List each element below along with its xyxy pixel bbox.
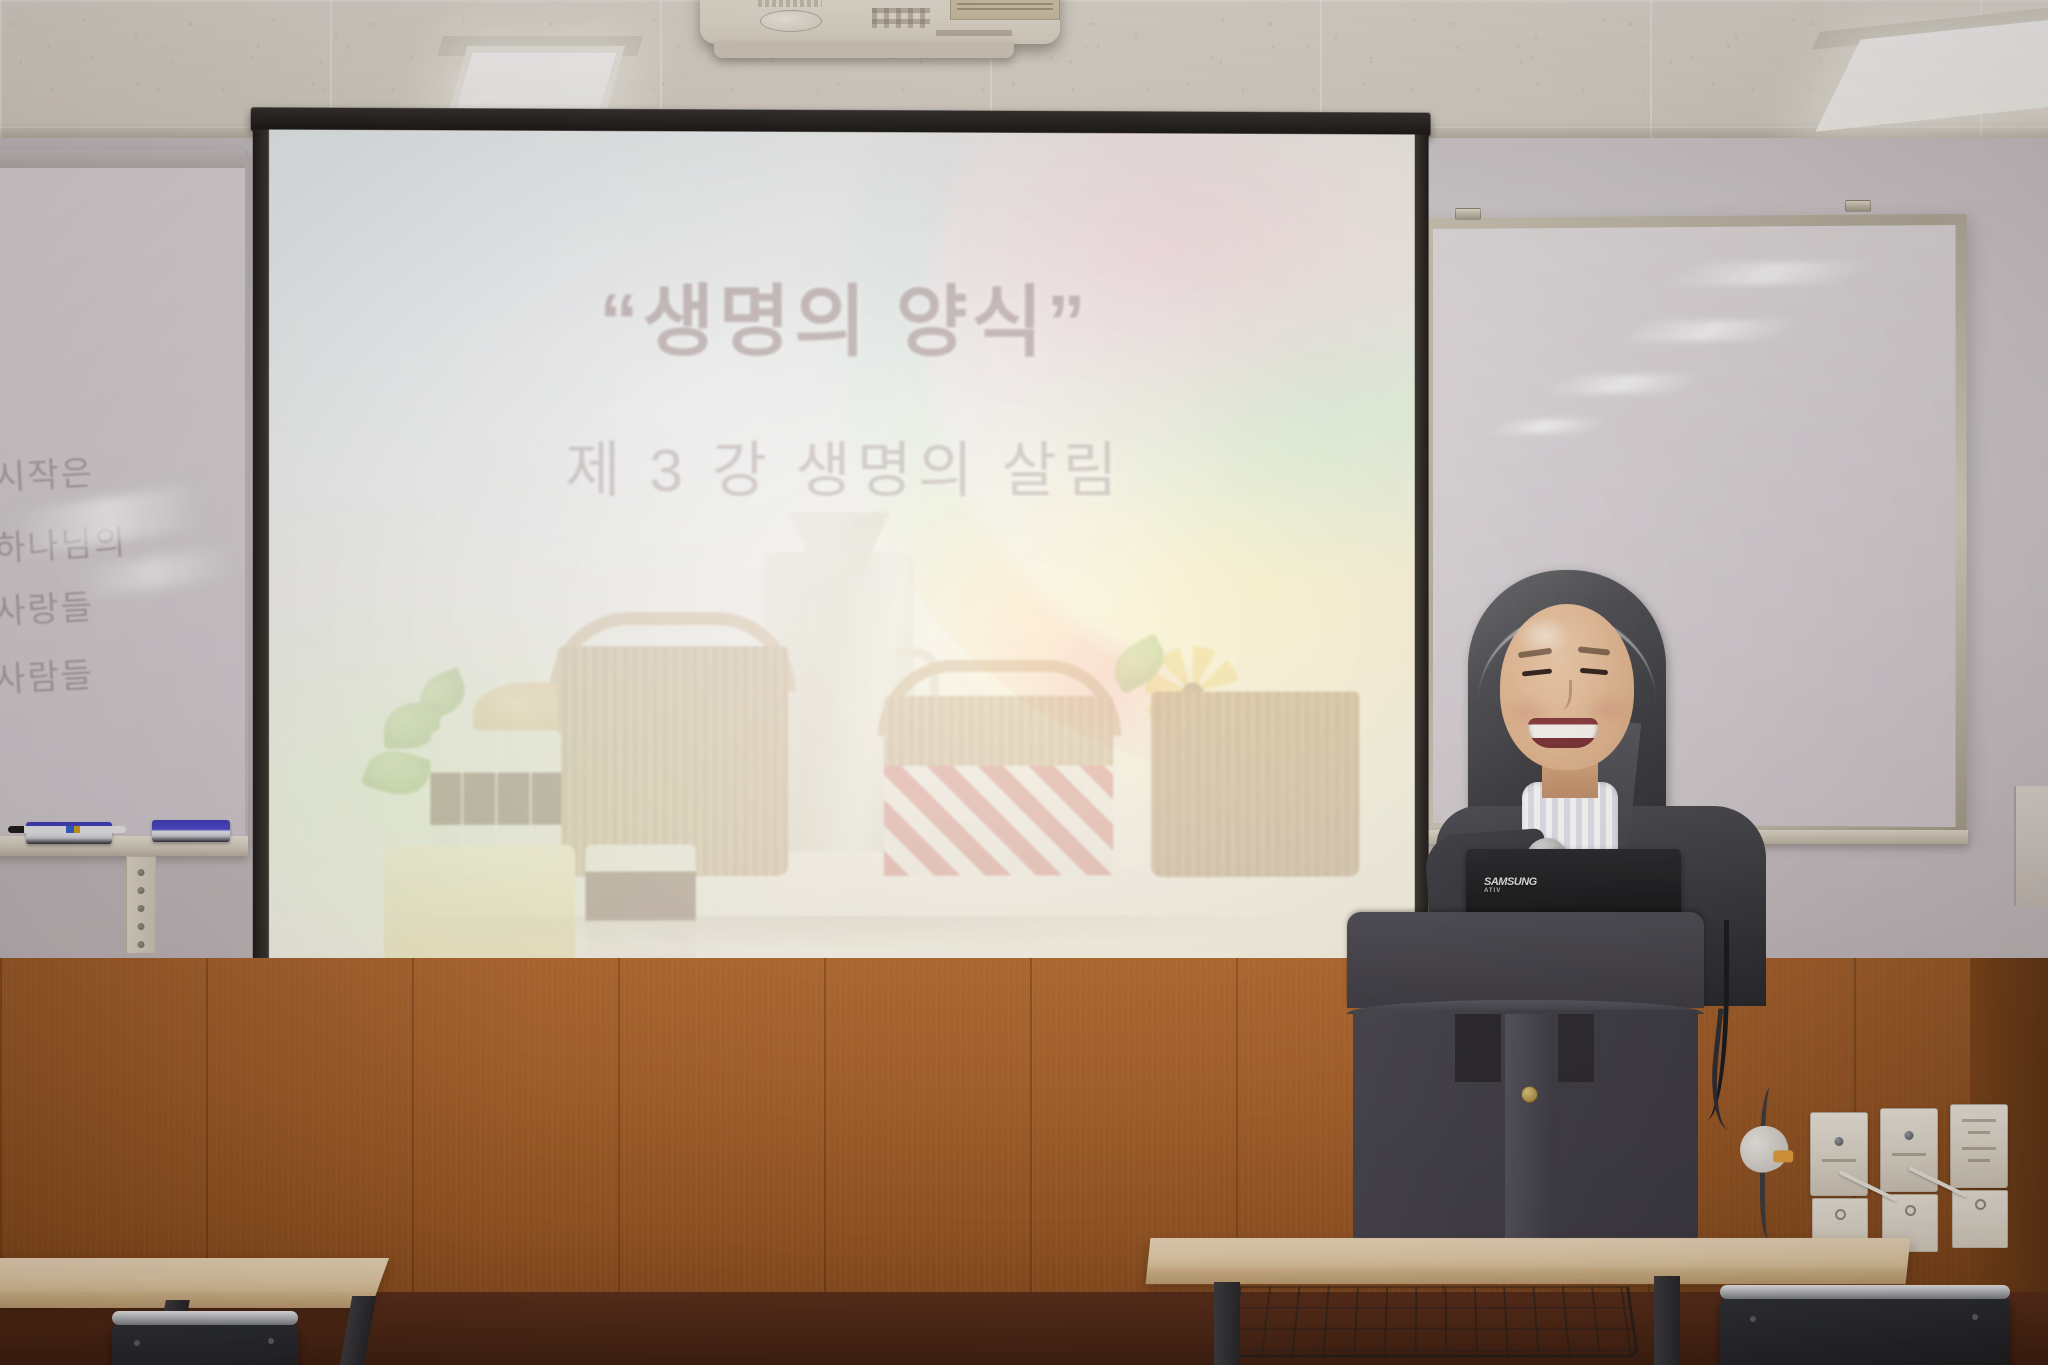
whiteboard-handwriting-line-4: 사람들 xyxy=(0,647,95,701)
lecture-hall-scene: 시작은 하나님의 사랑들 사람들 xyxy=(0,0,2048,1365)
av-jack-plate-3[interactable] xyxy=(1952,1190,2008,1248)
gingham-cloth xyxy=(884,766,1113,876)
under-desk-wire-basket xyxy=(1227,1286,1640,1357)
whiteboard-marker[interactable] xyxy=(8,826,126,833)
projection-screen: “생명의 양식” 제 3 강 생명의 살림 xyxy=(269,129,1415,1040)
wicker-basket-3 xyxy=(1151,691,1359,877)
smiling-mouth xyxy=(1528,718,1598,748)
projected-slide: “생명의 양식” 제 3 강 생명의 살림 xyxy=(269,129,1415,1014)
whiteboard-handwriting-line-1: 시작은 xyxy=(0,445,95,499)
laptop-brand-text: SAMSUNG xyxy=(1484,876,1537,888)
table-edge xyxy=(1146,1268,1908,1284)
student-chair-right[interactable] xyxy=(1720,1294,2010,1365)
projector-brand-label xyxy=(758,0,822,7)
cheek-right xyxy=(1592,700,1626,720)
board-glare-4 xyxy=(1487,419,1604,433)
projector-mount xyxy=(714,42,1014,58)
ceiling-projector xyxy=(700,0,1060,44)
student-chair-left[interactable] xyxy=(112,1320,298,1365)
board-glare-1 xyxy=(1668,262,1871,285)
artwork-shadow xyxy=(366,914,1326,951)
wicker-basket-1 xyxy=(557,646,788,877)
slide-food-artwork xyxy=(366,562,1326,944)
lectern-center-column xyxy=(1505,1014,1555,1250)
projector-vent-grille xyxy=(872,8,930,28)
student-table-left xyxy=(0,1258,389,1308)
table-leg-right xyxy=(1654,1276,1680,1365)
av-wall-plate-audio[interactable] xyxy=(1950,1104,2008,1188)
left-whiteboard-frame xyxy=(0,150,245,168)
board-glare-2 xyxy=(1619,320,1800,341)
student-table-right xyxy=(1146,1238,1911,1284)
lectern-top xyxy=(1347,912,1704,1008)
wall-mounted-device xyxy=(2014,786,2048,906)
chair-chrome-rail xyxy=(112,1311,298,1325)
whiteboard-eraser[interactable] xyxy=(152,820,230,842)
screen-border-left xyxy=(253,129,269,1014)
laptop-brand-sub: ATIV xyxy=(1484,888,1537,894)
chair-chrome-rail xyxy=(1720,1285,2010,1299)
bulletin-board-clip-right[interactable] xyxy=(1845,200,1871,212)
laptop-brand-logo: SAMSUNG ATIV xyxy=(1484,876,1537,894)
lectern-shadow-left xyxy=(1455,1014,1501,1082)
slide-subtitle: 제 3 강 생명의 살림 xyxy=(269,421,1415,509)
projector-lens xyxy=(760,10,822,32)
projector-foot xyxy=(936,30,1012,36)
lectern-shadow-right xyxy=(1558,1014,1594,1082)
bulletin-board-clip-left[interactable] xyxy=(1455,208,1481,220)
left-whiteboard: 시작은 하나님의 사랑들 사람들 xyxy=(0,150,248,840)
projector-spec-sticker xyxy=(950,0,1060,20)
slide-title: “생명의 양식” xyxy=(269,258,1415,373)
whiteboard-tray-bracket xyxy=(126,856,156,954)
table-leg-left xyxy=(1214,1282,1240,1365)
leaf-3 xyxy=(361,742,434,803)
board-glare-3 xyxy=(1544,375,1702,394)
lectern-button[interactable] xyxy=(1521,1086,1538,1103)
